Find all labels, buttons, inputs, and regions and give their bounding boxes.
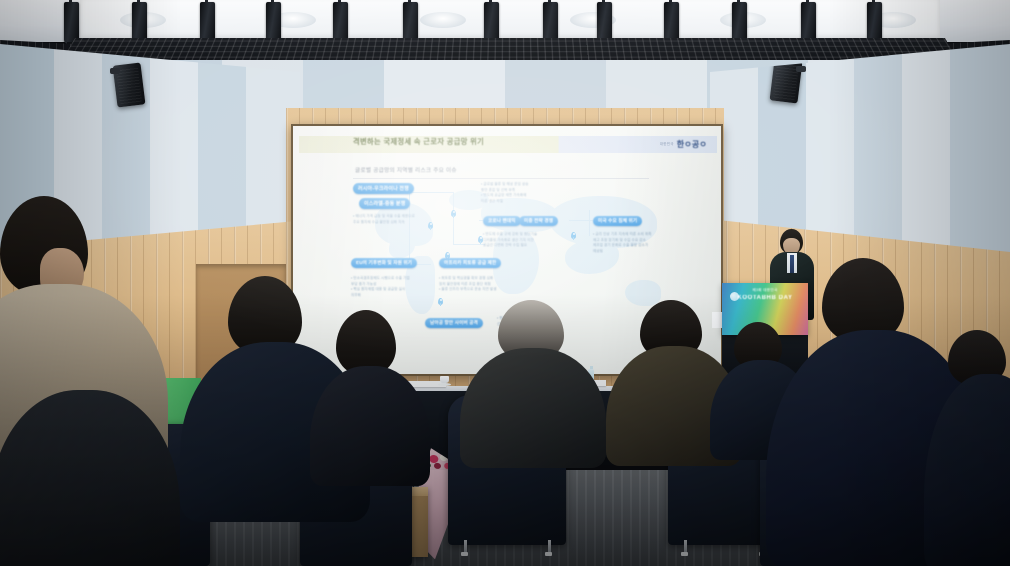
slide-pill-africa-rareearth: 아프리카 희토류 공급 제한	[439, 258, 501, 268]
slide-logo: 대한민국 한ㅇ공ㅇ	[652, 137, 715, 152]
table-saucer	[438, 383, 451, 386]
slide-note-eu: • 탄소국경조정제도 시행으로 수출 기업 부담 증가 가능성 • 핵심 원자재…	[351, 276, 449, 299]
slide-title: 격변하는 국제정세 속 근로자 공급망 위기	[353, 137, 484, 147]
slide-logo-subtext: 대한민국	[660, 142, 674, 147]
slide-note-uschina: • 반도체 수출 규제 강화 및 첨단기술 디커플링 가속화로 생산 기지 이전…	[483, 232, 579, 249]
slide-pill-us-china: 미중 전략 경쟁	[519, 216, 558, 226]
slide-pill-russia-ukraine: 러시아-우크라이나 전쟁	[353, 183, 414, 194]
slide-divider	[353, 178, 649, 179]
slide-pill-eu-climate: EU의 기후변화 및 자원 위기	[351, 258, 417, 268]
slide-note-russia: • 에너지 가격 급등 및 곡물 수출 제한으로 주요 원자재 수급 불안정 심…	[353, 214, 449, 225]
podium-sign-line1: 제3회 대한민국	[722, 288, 808, 293]
slide-pill-pandemic: 코로나 팬데믹	[483, 216, 521, 226]
presenter-tie	[790, 255, 794, 273]
slide-note-logistics: • 글로벌 물류 및 해상 운임 상승 항만 혼잡 및 선복 부족 • 반도체 …	[481, 182, 567, 205]
conference-hall-photo: 격변하는 국제정세 속 근로자 공급망 위기 대한민국 한ㅇ공ㅇ 글로벌 공급망…	[0, 0, 1010, 566]
slide-pill-us-demand: 미국 수요 침체 위기	[593, 216, 642, 226]
map-pin-icon	[438, 298, 443, 305]
slide-note-africa: • 희토류 및 핵심광물 확보 경쟁 심화 정치 불안정에 따른 조업 중단 위…	[439, 276, 537, 293]
table-coffee-cup	[440, 376, 449, 383]
slide-pill-southafrica-cyber: 남아공 항만 사이버 공격	[425, 318, 483, 328]
slide-subtitle: 글로벌 공급망의 지역별 리스크 주요 이슈	[355, 166, 457, 174]
map-pin-icon	[451, 210, 456, 217]
slide-logo-maintext: 한ㅇ공ㅇ	[677, 139, 707, 150]
slide-note-usdemand: • 금리 인상 기조 지속에 따른 소비 위축 재고 조정 장기화 및 수입 수…	[593, 232, 685, 255]
podium-sign-line2: KOOTABHB DAY	[722, 295, 808, 301]
slide-pill-israel-middleeast: 이스라엘-중동 분쟁	[359, 198, 410, 209]
